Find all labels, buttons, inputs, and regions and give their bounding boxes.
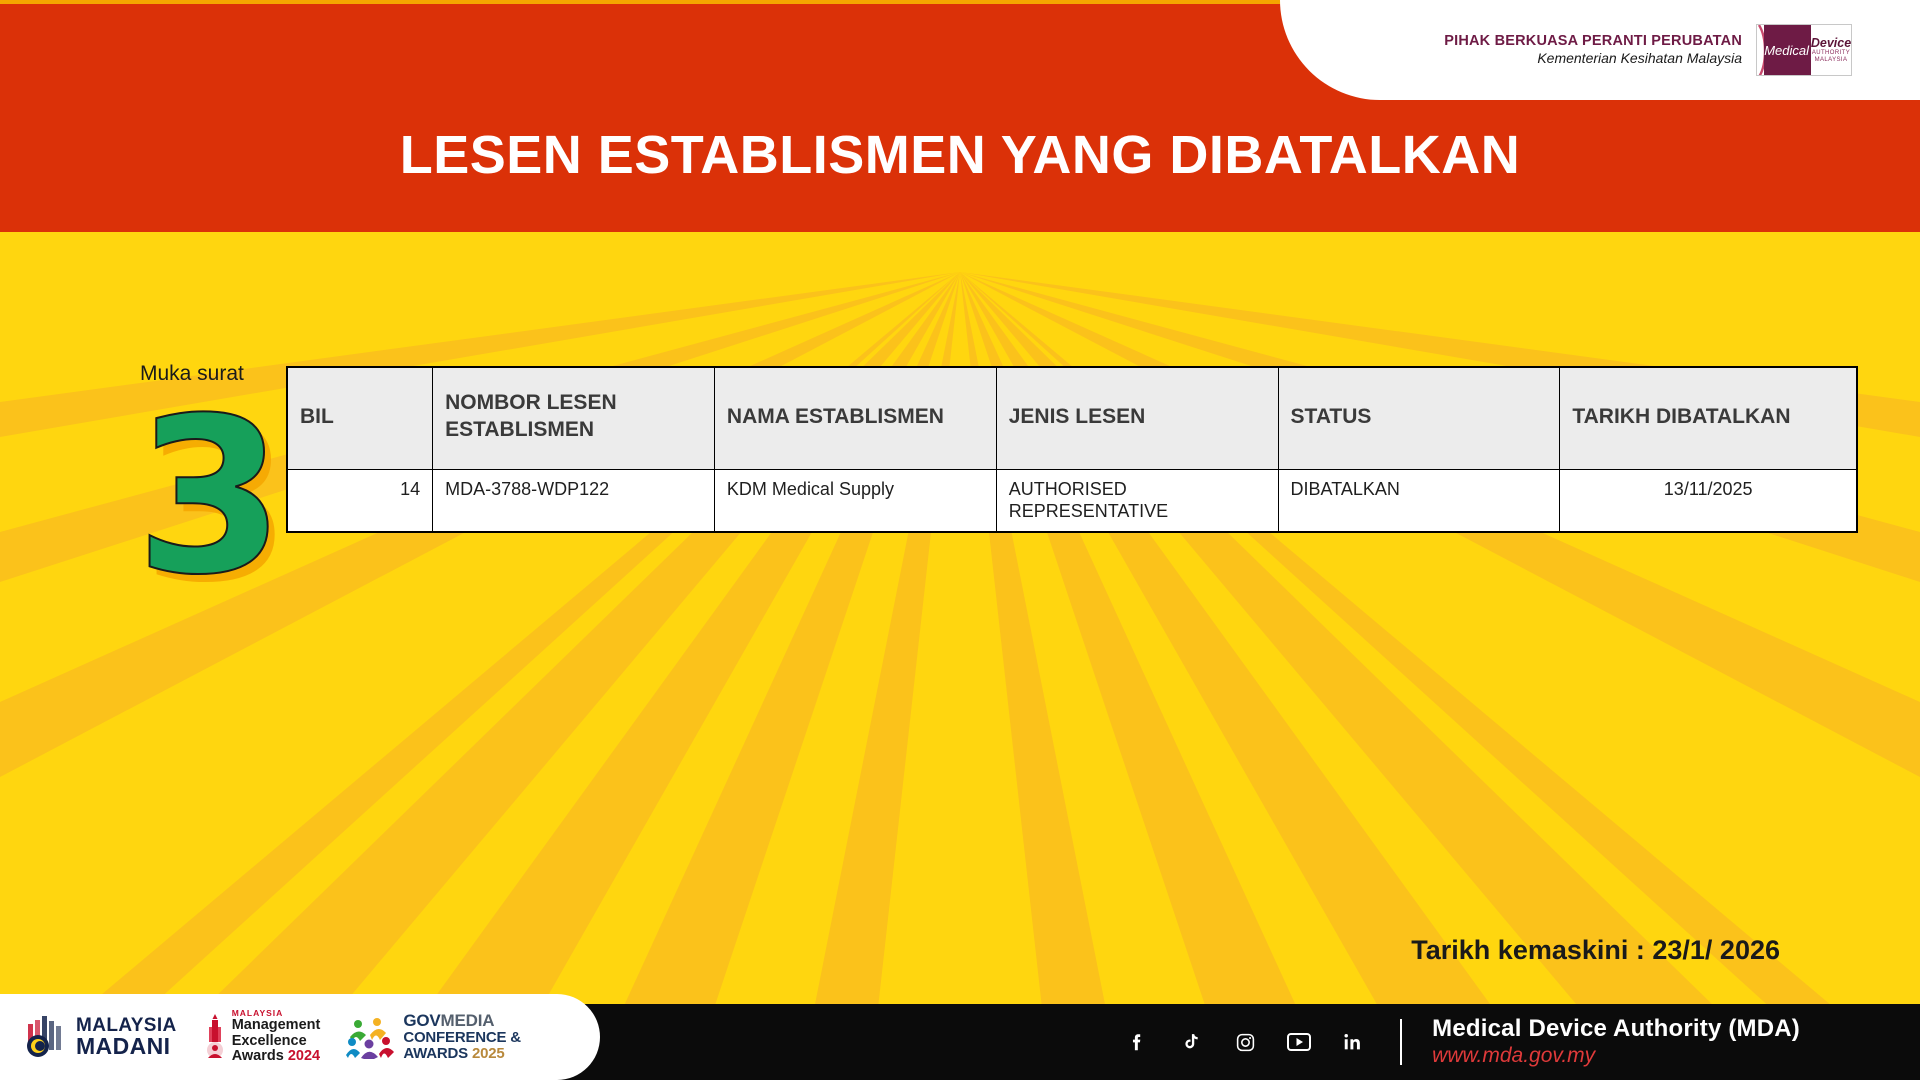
mmea-line2: Excellence (232, 1034, 321, 1049)
cancelled-licence-table: BIL NOMBOR LESEN ESTABLISMEN NAMA ESTABL… (286, 366, 1858, 533)
linkedin-icon[interactable] (1340, 1029, 1366, 1055)
govmedia-line2: CONFERENCE & (403, 1030, 521, 1046)
govmedia-text: GOVMEDIA CONFERENCE & AWARDS 2025 (403, 1012, 521, 1061)
govmedia-gov-word: GOV (403, 1011, 440, 1030)
column-header-nombor-lesen: NOMBOR LESEN ESTABLISMEN (433, 367, 715, 469)
footer-divider (1400, 1019, 1402, 1065)
mmea-year: 2024 (288, 1048, 320, 1064)
cell-nombor-lesen: MDA-3788-WDP122 (433, 469, 715, 532)
govmedia-awards-word: AWARDS (403, 1045, 468, 1062)
mda-medical-word: Medical (1764, 25, 1811, 75)
madani-line2: MADANI (76, 1035, 177, 1058)
govmedia-awards-logo: GOVMEDIA CONFERENCE & AWARDS 2025 (346, 1012, 521, 1061)
facebook-icon[interactable] (1124, 1029, 1150, 1055)
column-header-status: STATUS (1278, 367, 1560, 469)
table-header-row: BIL NOMBOR LESEN ESTABLISMEN NAMA ESTABL… (287, 367, 1857, 469)
mmea-awards-word: Awards (232, 1048, 284, 1064)
footer-social-block: Medical Device Authority (MDA) www.mda.g… (1124, 1004, 1920, 1080)
column-header-jenis-lesen: JENIS LESEN (996, 367, 1278, 469)
youtube-icon[interactable] (1286, 1029, 1312, 1055)
cell-tarikh-dibatalkan: 13/11/2025 (1560, 469, 1857, 532)
table-row: 14 MDA-3788-WDP122 KDM Medical Supply AU… (287, 469, 1857, 532)
cell-jenis-lesen: AUTHORISED REPRESENTATIVE (996, 469, 1278, 532)
footer-logos-panel: MALAYSIA MADANI MALAYSIA Management (0, 994, 600, 1080)
madani-text: MALAYSIA MADANI (76, 1016, 177, 1059)
govmedia-people-icon (346, 1015, 396, 1059)
page-title: LESEN ESTABLISMEN YANG DIBATALKAN (0, 128, 1920, 182)
authority-logo-plate: PIHAK BERKUASA PERANTI PERUBATAN Kemente… (1280, 0, 1920, 100)
cell-nama-establismen: KDM Medical Supply (714, 469, 996, 532)
govmedia-line3: AWARDS 2025 (403, 1046, 521, 1062)
mda-device-word: Device (1811, 36, 1851, 50)
mmea-line3: Awards 2024 (232, 1049, 321, 1064)
page-number-badge: 3 (130, 382, 290, 612)
madani-emblem-icon (24, 1016, 68, 1058)
mda-logo-icon: Medical Device AUTHORITY MALAYSIA (1756, 24, 1852, 76)
cell-bil: 14 (287, 469, 433, 532)
management-excellence-awards-logo: MALAYSIA Management Excellence Awards 20… (203, 1009, 321, 1064)
footer-org-name: Medical Device Authority (MDA) (1432, 1015, 1800, 1043)
footer-website-link[interactable]: www.mda.gov.my (1432, 1044, 1800, 1069)
authority-text: PIHAK BERKUASA PERANTI PERUBATAN Kemente… (1444, 32, 1742, 68)
malaysia-madani-logo: MALAYSIA MADANI (24, 1016, 177, 1059)
mda-authority-word: AUTHORITY (1812, 50, 1850, 57)
govmedia-year: 2025 (472, 1045, 505, 1062)
ministry-name: Kementerian Kesihatan Malaysia (1444, 50, 1742, 68)
mda-device-block: Device AUTHORITY MALAYSIA (1811, 25, 1851, 75)
column-header-tarikh-dibatalkan: TARIKH DIBATALKAN (1560, 367, 1857, 469)
page-number-value: 3 (130, 382, 290, 612)
authority-name: PIHAK BERKUASA PERANTI PERUBATAN (1444, 32, 1742, 50)
govmedia-line1: GOVMEDIA (403, 1012, 521, 1030)
social-icon-list (1124, 1029, 1366, 1055)
licence-table-wrapper: BIL NOMBOR LESEN ESTABLISMEN NAMA ESTABL… (286, 366, 1858, 533)
govmedia-media-word: MEDIA (441, 1011, 495, 1030)
column-header-bil: BIL (287, 367, 433, 469)
column-header-nama-establismen: NAMA ESTABLISMEN (714, 367, 996, 469)
mmea-tower-icon (203, 1014, 227, 1060)
instagram-icon[interactable] (1232, 1029, 1258, 1055)
tiktok-icon[interactable] (1178, 1029, 1204, 1055)
cell-status: DIBATALKAN (1278, 469, 1560, 532)
footer-org-block: Medical Device Authority (MDA) www.mda.g… (1432, 1015, 1800, 1068)
mda-malaysia-word: MALAYSIA (1815, 57, 1848, 64)
last-updated-text: Tarikh kemaskini : 23/1/ 2026 (1411, 935, 1780, 966)
slide-root: LESEN ESTABLISMEN YANG DIBATALKAN PIHAK … (0, 0, 1920, 1080)
mda-wave-icon (1757, 25, 1764, 75)
mmea-line1: Management (232, 1018, 321, 1033)
mmea-text: MALAYSIA Management Excellence Awards 20… (232, 1009, 321, 1064)
